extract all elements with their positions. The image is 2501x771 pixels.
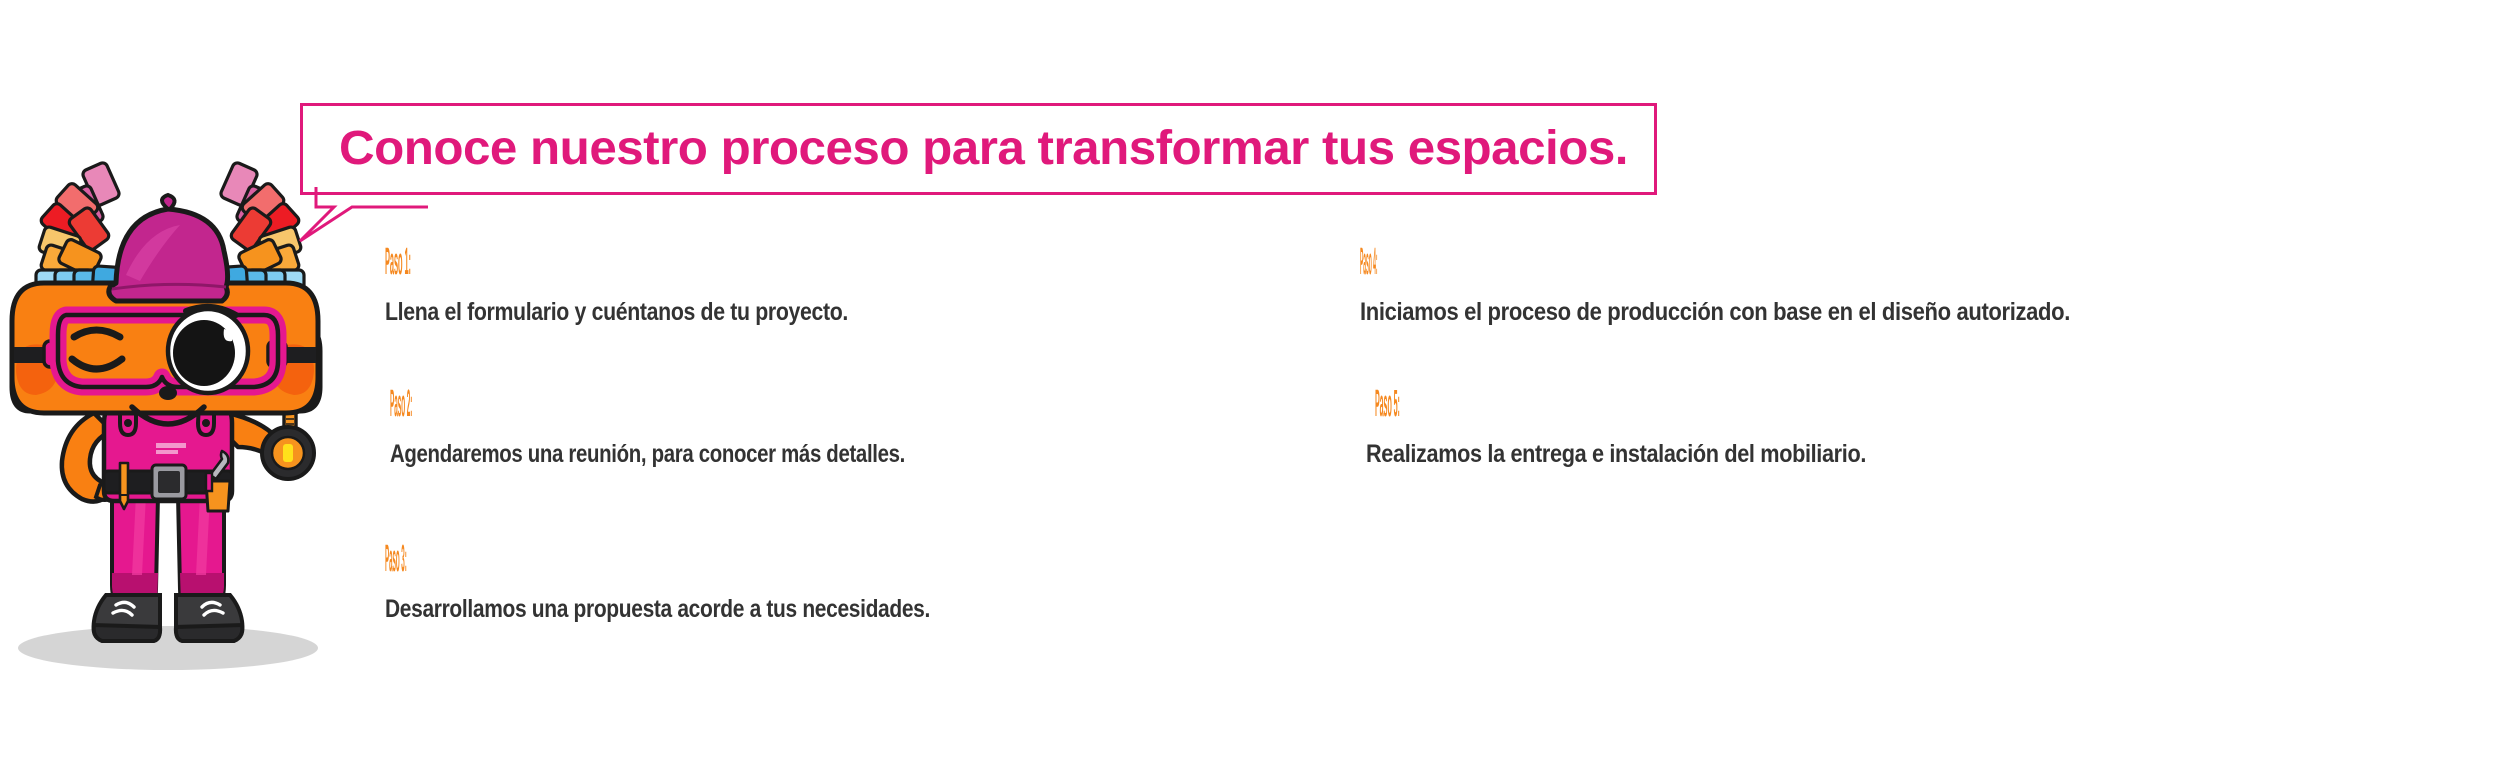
- mascot-head: [12, 283, 320, 424]
- step-4-description: Iniciamos el proceso de producción con b…: [1360, 300, 2070, 325]
- mascot-illustration: [0, 155, 340, 675]
- speech-bubble: Conoce nuestro proceso para transformar …: [300, 103, 1657, 195]
- step-item-2: Paso 2: Agendaremos una reunión, para co…: [390, 385, 1021, 467]
- step-item-3: Paso 3: Desarrollamos una propuesta acor…: [385, 540, 1035, 622]
- beret-hat: [109, 195, 228, 301]
- step-4-title: Paso 4:: [1360, 243, 1466, 281]
- mascot-shadow: [18, 626, 318, 670]
- step-item-5: Paso 5: Realizamos la entrega e instalac…: [1375, 385, 1943, 467]
- step-5-title: Paso 5:: [1375, 385, 1481, 423]
- step-3-title: Paso 3:: [385, 540, 491, 578]
- pencil-icon: [120, 463, 128, 509]
- step-5-description: Realizamos la entrega e instalación del …: [1366, 442, 1866, 467]
- step-item-4: Paso 4: Iniciamos el proceso de producci…: [1360, 243, 2166, 325]
- step-3-description: Desarrollamos una propuesta acorde a tus…: [385, 597, 930, 622]
- process-infographic: Conoce nuestro proceso para transformar …: [0, 0, 2501, 771]
- step-2-title: Paso 2:: [390, 385, 496, 423]
- step-item-1: Paso 1: Llena el formulario y cuéntanos …: [385, 243, 929, 325]
- step-2-description: Agendaremos una reunión, para conocer má…: [390, 442, 905, 467]
- step-1-title: Paso 1:: [385, 243, 491, 281]
- headline-text: Conoce nuestro proceso para transformar …: [339, 125, 1628, 173]
- step-1-description: Llena el formulario y cuéntanos de tu pr…: [385, 300, 848, 325]
